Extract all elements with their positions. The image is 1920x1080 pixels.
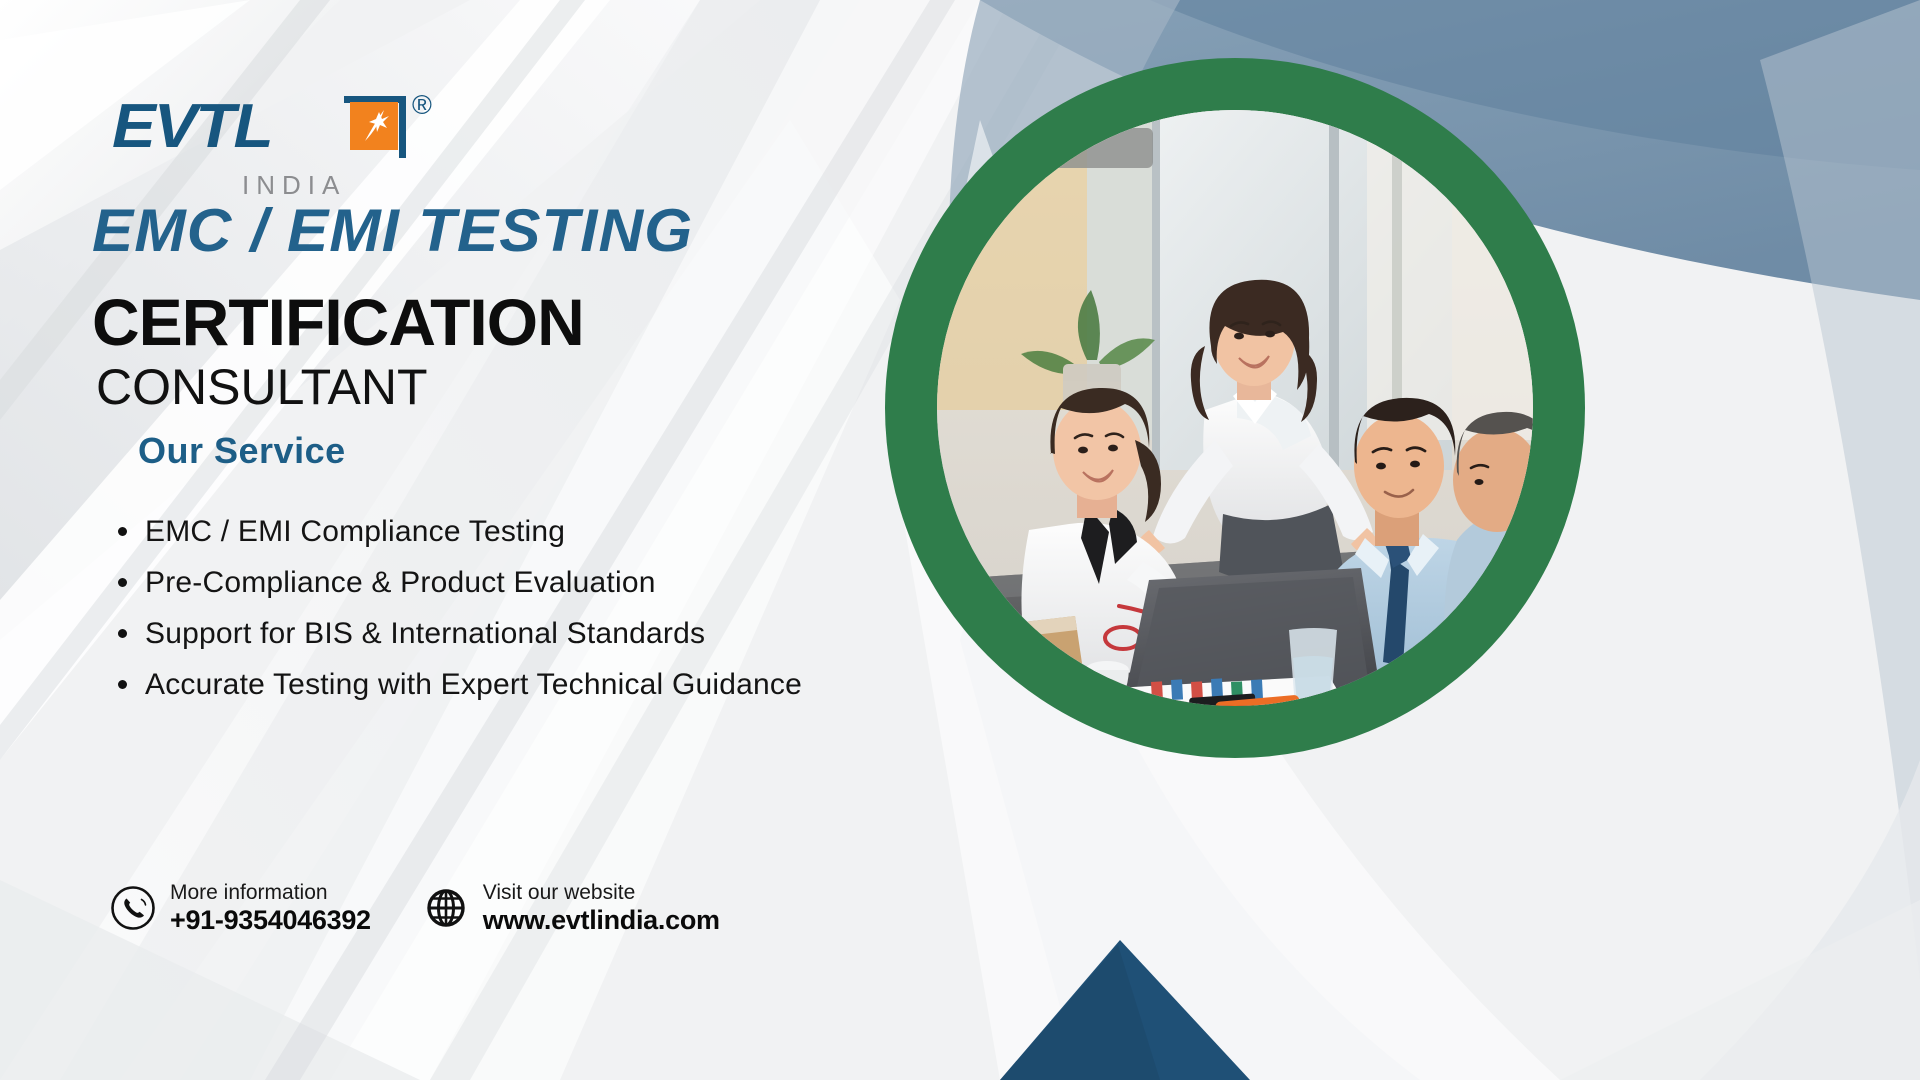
page-title: EMC / EMI TESTING — [92, 196, 693, 265]
bullet-dot-icon — [118, 629, 127, 638]
service-label: EMC / EMI Compliance Testing — [145, 512, 565, 552]
contact-phone-label: More information — [170, 880, 371, 905]
registered-trademark-icon: ® — [412, 92, 432, 119]
content-column: EVTL ® INDIA EMC / EMI TESTING CERTIFICA… — [0, 0, 980, 1080]
services-heading: Our Service — [138, 430, 346, 472]
subtitle-secondary: CONSULTANT — [96, 358, 428, 416]
phone-circle-icon — [110, 885, 156, 931]
bullet-dot-icon — [118, 578, 127, 587]
list-item: EMC / EMI Compliance Testing — [118, 512, 918, 552]
banner-canvas: EVTL ® INDIA EMC / EMI TESTING CERTIFICA… — [0, 0, 1920, 1080]
star-burst-icon — [350, 102, 398, 150]
contact-phone[interactable]: More information +91-9354046392 — [110, 880, 371, 936]
service-label: Support for BIS & International Standard… — [145, 614, 705, 654]
contact-website-label: Visit our website — [483, 880, 720, 905]
contact-website[interactable]: Visit our website www.evtlindia.com — [423, 880, 720, 936]
hero-photo — [885, 58, 1585, 758]
contact-phone-value[interactable]: +91-9354046392 — [170, 905, 371, 936]
service-label: Pre-Compliance & Product Evaluation — [145, 563, 656, 603]
contact-phone-text: More information +91-9354046392 — [170, 880, 371, 936]
globe-icon — [423, 885, 469, 931]
list-item: Pre-Compliance & Product Evaluation — [118, 563, 918, 603]
photo-image — [937, 110, 1533, 706]
logo-mark: EVTL ® — [112, 96, 432, 162]
brand-logo[interactable]: EVTL ® INDIA — [112, 96, 432, 201]
bullet-dot-icon — [118, 527, 127, 536]
bullet-dot-icon — [118, 680, 127, 689]
contact-bar: More information +91-9354046392 — [110, 880, 720, 936]
list-item: Support for BIS & International Standard… — [118, 614, 918, 654]
list-item: Accurate Testing with Expert Technical G… — [118, 665, 918, 705]
services-list: EMC / EMI Compliance Testing Pre-Complia… — [118, 512, 918, 716]
contact-website-value[interactable]: www.evtlindia.com — [483, 905, 720, 936]
service-label: Accurate Testing with Expert Technical G… — [145, 665, 802, 705]
subtitle-primary: CERTIFICATION — [92, 284, 584, 360]
logo-wordmark: EVTL — [112, 96, 271, 158]
contact-website-text: Visit our website www.evtlindia.com — [483, 880, 720, 936]
